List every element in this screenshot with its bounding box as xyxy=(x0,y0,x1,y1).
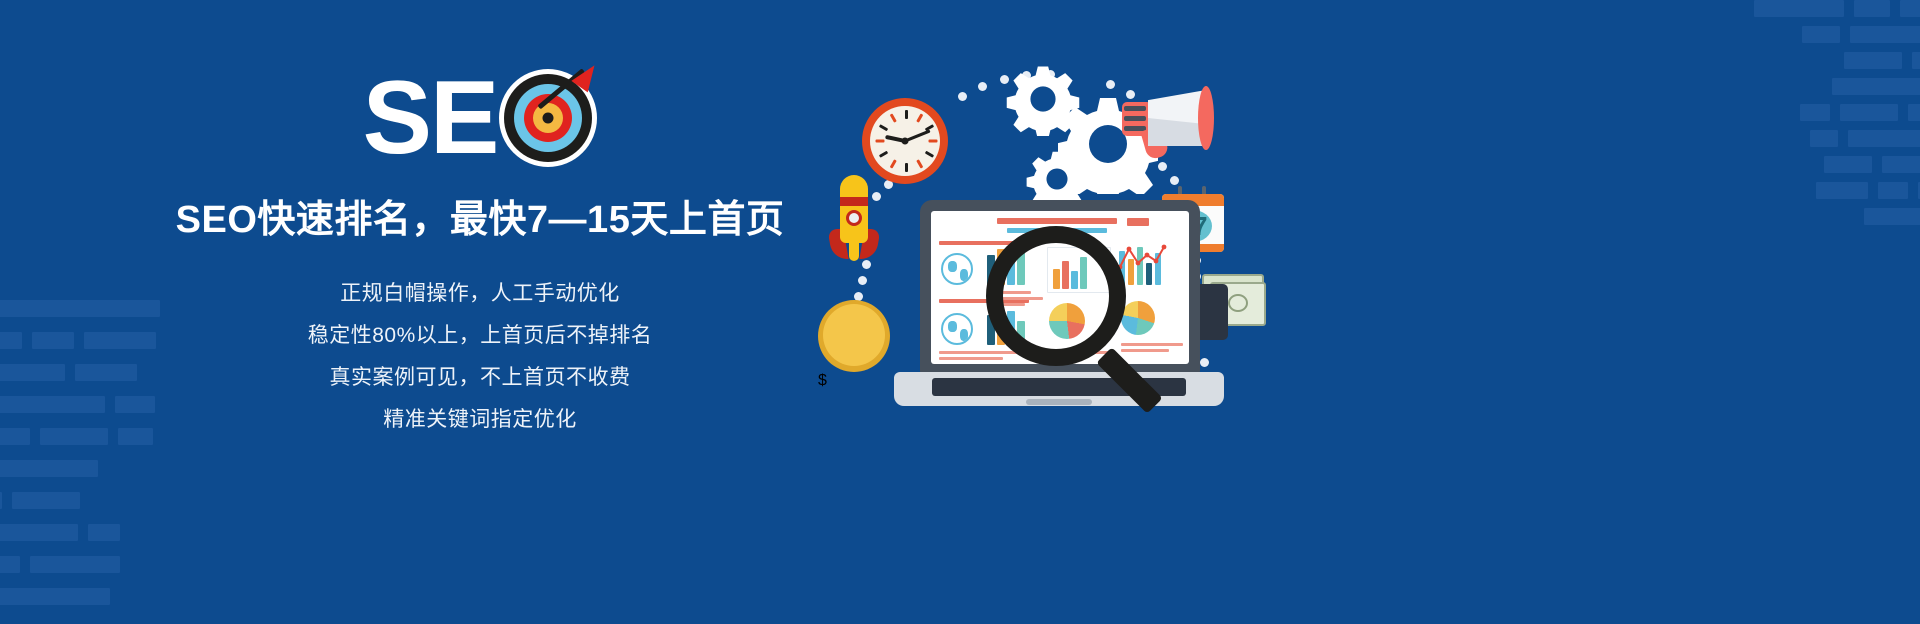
page-title: SEO快速排名，最快7—15天上首页 xyxy=(176,188,785,243)
banner-text-column: SE SEO快速排名，最快7—15天上首页 正规白帽操作，人工手动优化 稳定性8… xyxy=(150,70,810,490)
feature-line: 稳定性80%以上，上首页后不掉排名 xyxy=(308,319,653,349)
rocket-icon xyxy=(830,175,878,271)
feature-line: 精准关键词指定优化 xyxy=(383,403,577,433)
seo-illustration: $ 17 xyxy=(810,40,1490,600)
seo-logo-letters: SE xyxy=(363,70,498,166)
feature-line: 真实案例可见，不上首页不收费 xyxy=(330,361,631,391)
feature-line: 正规白帽操作，人工手动优化 xyxy=(340,277,620,307)
megaphone-icon xyxy=(1120,82,1224,162)
magnifier-icon xyxy=(986,226,1176,416)
decorative-code-blocks-right xyxy=(1690,0,1920,624)
coin-dollar-symbol: $ xyxy=(818,372,890,390)
target-bullseye-icon xyxy=(499,69,597,167)
seo-logo: SE xyxy=(363,70,598,166)
feature-list: 正规白帽操作，人工手动优化 稳定性80%以上，上首页后不掉排名 真实案例可见，不… xyxy=(308,277,653,433)
dollar-coin-icon: $ xyxy=(818,300,890,372)
seo-promo-banner: SE SEO快速排名，最快7—15天上首页 正规白帽操作，人工手动优化 稳定性8… xyxy=(0,0,1920,624)
clock-icon xyxy=(862,98,948,184)
